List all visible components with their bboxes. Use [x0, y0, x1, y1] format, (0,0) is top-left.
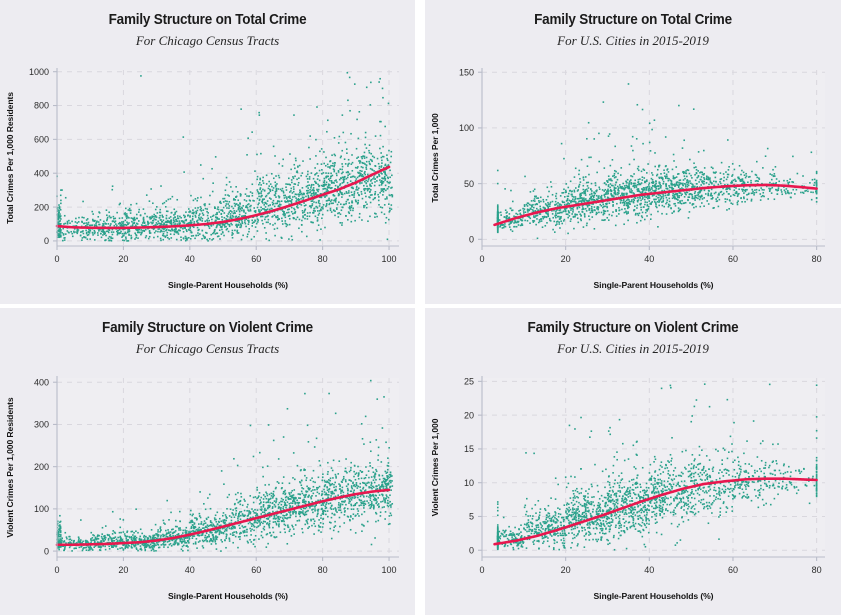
panel-title: Family Structure on Violent Crime — [440, 321, 827, 337]
y-tick-label: 15 — [464, 444, 474, 454]
y-tick-label: 400 — [34, 168, 49, 178]
plot-background — [482, 70, 825, 246]
x-tick-label: 60 — [251, 254, 261, 264]
x-tick-label: 20 — [561, 565, 571, 575]
panel-header: Family Structure on Total Crime For U.S.… — [425, 0, 841, 48]
plot-background — [482, 378, 825, 557]
panel-subtitle: For U.S. Cities in 2015-2019 — [425, 342, 841, 356]
y-tick-label: 100 — [34, 504, 49, 514]
y-tick-label: 5 — [469, 512, 474, 522]
x-tick-label: 0 — [479, 565, 484, 575]
x-tick-label: 60 — [728, 565, 738, 575]
panel-uscities-total-crime: Family Structure on Total Crime For U.S.… — [425, 0, 841, 304]
x-tick-label: 60 — [251, 565, 261, 575]
x-tick-label: 20 — [118, 565, 128, 575]
panel-uscities-violent-crime: Family Structure on Violent Crime For U.… — [425, 308, 841, 615]
y-tick-label: 50 — [464, 179, 474, 189]
scatter-plot-svg: 0510152025020406080Single-Parent Househo… — [425, 364, 841, 615]
x-tick-label: 20 — [118, 254, 128, 264]
y-axis-title: Total Crimes Per 1,000 — [430, 113, 440, 203]
panel-title: Family Structure on Violent Crime — [15, 321, 401, 337]
y-tick-label: 600 — [34, 135, 49, 145]
x-tick-label: 20 — [561, 254, 571, 264]
panel-subtitle: For Chicago Census Tracts — [0, 34, 415, 48]
x-axis-title: Single-Parent Households (%) — [594, 280, 714, 290]
y-tick-label: 10 — [464, 478, 474, 488]
x-axis-title: Single-Parent Households (%) — [168, 591, 288, 601]
y-tick-label: 1000 — [29, 67, 49, 77]
y-axis-title: Total Crimes Per 1,000 Residents — [5, 92, 15, 224]
y-tick-label: 0 — [469, 545, 474, 555]
plot-area-chicago-violent-crime: 0100200300400020406080100Single-Parent H… — [0, 364, 415, 615]
x-tick-label: 80 — [318, 254, 328, 264]
x-tick-label: 100 — [382, 565, 397, 575]
x-axis-title: Single-Parent Households (%) — [168, 280, 288, 290]
plot-area-uscities-violent-crime: 0510152025020406080Single-Parent Househo… — [425, 364, 841, 615]
y-tick-label: 200 — [34, 462, 49, 472]
x-tick-label: 40 — [185, 254, 195, 264]
y-tick-label: 0 — [469, 235, 474, 245]
x-tick-label: 80 — [318, 565, 328, 575]
x-axis-title: Single-Parent Households (%) — [594, 591, 714, 601]
panel-header: Family Structure on Total Crime For Chic… — [0, 0, 415, 48]
x-tick-label: 0 — [54, 254, 59, 264]
x-tick-label: 100 — [382, 254, 397, 264]
x-tick-label: 0 — [54, 565, 59, 575]
plot-background — [57, 378, 399, 557]
y-axis-title: Violent Crimes Per 1,000 Residents — [5, 397, 15, 538]
y-tick-label: 0 — [44, 236, 49, 246]
y-tick-label: 300 — [34, 420, 49, 430]
panel-title: Family Structure on Total Crime — [15, 13, 401, 29]
figure-grid: Family Structure on Total Crime For Chic… — [0, 0, 841, 615]
panel-chicago-total-crime: Family Structure on Total Crime For Chic… — [0, 0, 415, 304]
x-tick-label: 60 — [728, 254, 738, 264]
x-tick-label: 40 — [644, 254, 654, 264]
y-tick-label: 20 — [464, 410, 474, 420]
panel-subtitle: For U.S. Cities in 2015-2019 — [425, 34, 841, 48]
x-tick-label: 80 — [812, 254, 822, 264]
scatter-plot-svg: 050100150020406080Single-Parent Househol… — [425, 56, 841, 304]
panel-subtitle: For Chicago Census Tracts — [0, 342, 415, 356]
y-tick-label: 150 — [459, 67, 474, 77]
x-tick-label: 0 — [479, 254, 484, 264]
y-tick-label: 400 — [34, 377, 49, 387]
panel-chicago-violent-crime: Family Structure on Violent Crime For Ch… — [0, 308, 415, 615]
y-tick-label: 200 — [34, 202, 49, 212]
y-tick-label: 0 — [44, 546, 49, 556]
y-tick-label: 800 — [34, 101, 49, 111]
scatter-plot-svg: 0100200300400020406080100Single-Parent H… — [0, 364, 415, 615]
y-tick-label: 25 — [464, 377, 474, 387]
plot-area-uscities-total-crime: 050100150020406080Single-Parent Househol… — [425, 56, 841, 304]
svg-text:Total Crimes Per 1,000 Residen: Total Crimes Per 1,000 Residents — [5, 92, 15, 224]
y-tick-label: 100 — [459, 123, 474, 133]
panel-header: Family Structure on Violent Crime For U.… — [425, 308, 841, 356]
scatter-plot-svg: 02004006008001000020406080100Single-Pare… — [0, 56, 415, 304]
plot-area-chicago-total-crime: 02004006008001000020406080100Single-Pare… — [0, 56, 415, 304]
svg-text:Total Crimes Per 1,000: Total Crimes Per 1,000 — [430, 113, 440, 203]
panel-title: Family Structure on Total Crime — [440, 13, 827, 29]
x-tick-label: 40 — [185, 565, 195, 575]
x-tick-label: 40 — [644, 565, 654, 575]
y-axis-title: Violent Crimes Per 1,000 — [430, 418, 440, 516]
x-tick-label: 80 — [812, 565, 822, 575]
panel-header: Family Structure on Violent Crime For Ch… — [0, 308, 415, 356]
